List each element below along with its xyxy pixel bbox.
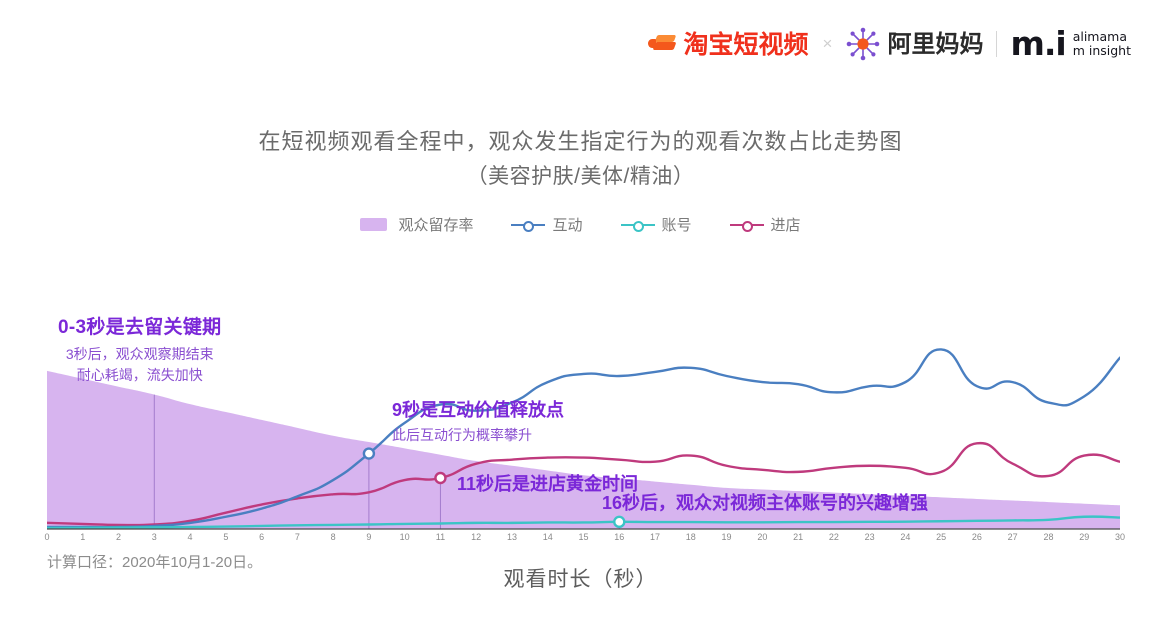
- page-title: 在短视频观看全程中，观众发生指定行为的观看次数占比走势图: [0, 124, 1161, 156]
- x-tick-label: 18: [686, 532, 696, 542]
- x-tick-label: 5: [223, 532, 228, 542]
- annotation-subtext-line1: 3秒后，观众观察期结束: [58, 344, 221, 365]
- x-tick-label: 29: [1079, 532, 1089, 542]
- x-tick-label: 8: [331, 532, 336, 542]
- x-tick-label: 11: [436, 532, 445, 542]
- legend-label: 账号: [662, 214, 692, 235]
- m-insight-mark: m.i: [1010, 30, 1065, 58]
- annotation-heading: 9秒是互动价值释放点: [392, 396, 564, 422]
- alimama-logo-text: 阿里妈妈: [887, 32, 983, 56]
- alimama-mark-icon: [846, 27, 880, 61]
- taobao-logo-text: 淘宝短视频: [684, 32, 809, 57]
- x-tick-label: 28: [1043, 532, 1053, 542]
- annotation-retention-critical: 0-3秒是去留关键期 3秒后，观众观察期结束 耐心耗竭，流失加快: [58, 312, 221, 386]
- series-area-retention: [47, 371, 1120, 529]
- legend-swatch-icon: [360, 218, 387, 231]
- x-tick-label: 2: [116, 532, 121, 542]
- page-subtitle: （美容护肤/美体/精油）: [0, 160, 1161, 190]
- legend-line-icon: [730, 218, 764, 232]
- legend-item-store-visit[interactable]: 进店: [730, 214, 801, 235]
- annotation-heading: 16秒后，观众对视频主体账号的兴趣增强: [602, 489, 928, 515]
- annotation-subtext-line1: 此后互动行为概率攀升: [392, 425, 564, 445]
- x-tick-label: 26: [972, 532, 982, 542]
- annotation-subtext: 3秒后，观众观察期结束 耐心耗竭，流失加快: [58, 344, 221, 386]
- legend-label: 进店: [771, 214, 801, 235]
- brand-separator-icon: ×: [823, 34, 833, 54]
- x-tick-label: 9: [366, 532, 371, 542]
- x-tick-label: 16: [614, 532, 624, 542]
- annotation-heading: 0-3秒是去留关键期: [58, 312, 221, 339]
- data-point-marker-x11[interactable]: [435, 473, 445, 483]
- data-point-marker-x9[interactable]: [364, 449, 374, 459]
- x-tick-label: 10: [400, 532, 410, 542]
- x-tick-label: 3: [152, 532, 157, 542]
- m-insight-wordmark: alimama m insight: [1073, 30, 1131, 59]
- taobao-short-video-logo: 淘宝短视频: [648, 32, 809, 57]
- legend-line-icon: [511, 218, 545, 232]
- legend-item-interaction[interactable]: 互动: [511, 214, 582, 235]
- chart-footnote: 计算口径：2020年10月1-20日。: [47, 551, 262, 572]
- x-tick-label: 15: [578, 532, 588, 542]
- x-tick-label: 21: [793, 532, 803, 542]
- annotation-interaction-release: 9秒是互动价值释放点 此后互动行为概率攀升: [392, 396, 564, 445]
- legend-label: 互动: [552, 214, 582, 235]
- legend-item-retention[interactable]: 观众留存率: [360, 214, 473, 235]
- taobao-mark-icon: [648, 33, 678, 55]
- x-tick-label: 30: [1115, 532, 1125, 542]
- alimama-logo: 阿里妈妈: [846, 27, 983, 61]
- m-insight-wordmark-line2: m insight: [1073, 44, 1131, 58]
- x-tick-label: 25: [936, 532, 946, 542]
- x-tick-label: 20: [757, 532, 767, 542]
- legend-line-icon: [621, 218, 655, 232]
- x-tick-label: 23: [865, 532, 875, 542]
- m-insight-wordmark-line1: alimama: [1073, 30, 1131, 44]
- x-tick-label: 14: [543, 532, 553, 542]
- m-insight-logo: m.i alimama m insight: [1010, 30, 1131, 59]
- x-tick-label: 27: [1008, 532, 1018, 542]
- x-tick-label: 13: [507, 532, 517, 542]
- data-point-marker-x16[interactable]: [614, 517, 624, 527]
- x-tick-label: 24: [900, 532, 910, 542]
- x-tick-label: 4: [188, 532, 193, 542]
- x-axis-ticks: 0123456789101112131415161718192021222324…: [47, 532, 1120, 548]
- annotation-account-interest: 16秒后，观众对视频主体账号的兴趣增强: [602, 489, 928, 515]
- brand-divider: [996, 31, 997, 57]
- brand-header: 淘宝短视频 ×: [648, 22, 1131, 66]
- x-tick-label: 12: [471, 532, 481, 542]
- x-tick-label: 17: [650, 532, 660, 542]
- x-tick-label: 6: [259, 532, 264, 542]
- x-tick-label: 1: [80, 532, 85, 542]
- legend-item-account[interactable]: 账号: [621, 214, 692, 235]
- x-tick-label: 22: [829, 532, 839, 542]
- annotation-subtext-line2: 耐心耗竭，流失加快: [58, 365, 221, 386]
- retention-area-layer: [47, 371, 1120, 529]
- x-tick-label: 0: [44, 532, 49, 542]
- x-tick-label: 19: [722, 532, 732, 542]
- legend-label: 观众留存率: [398, 214, 473, 235]
- chart-legend: 观众留存率 互动 账号 进店: [0, 214, 1161, 235]
- x-tick-label: 7: [295, 532, 300, 542]
